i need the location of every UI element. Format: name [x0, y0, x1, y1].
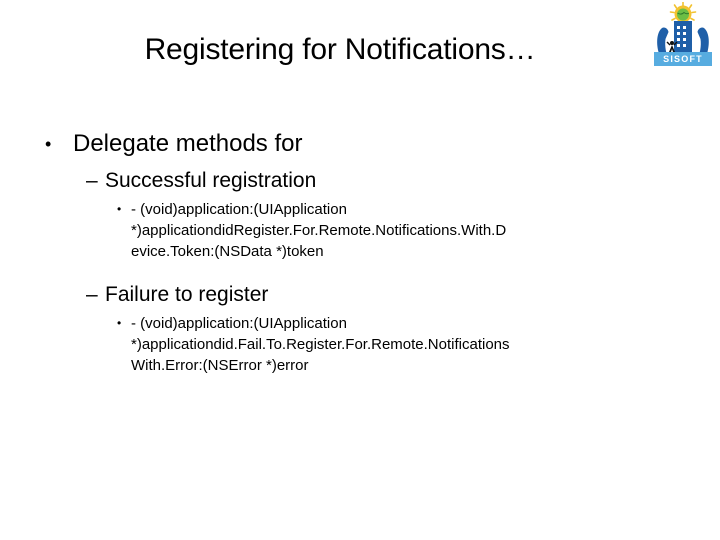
code-line: evice.Token:(NSData *)token	[131, 241, 668, 262]
bullet-level2-failure: – Failure to register	[0, 280, 720, 310]
dash-marker-icon: –	[86, 166, 98, 196]
bullet-level1-text: Delegate methods for	[73, 130, 302, 157]
bullet-level1: • Delegate methods for	[0, 128, 720, 160]
code-line: With.Error:(NSError *)error	[131, 355, 668, 376]
dash-marker-icon: –	[86, 280, 98, 310]
code-line: - (void)application:(UIApplication	[131, 199, 668, 220]
code-line: *)applicationdidRegister.For.Remote.Noti…	[131, 220, 668, 241]
bullet-marker-icon: •	[117, 313, 121, 334]
logo-wordmark: SISOFT	[654, 52, 712, 66]
code-line: *)applicationdid.Fail.To.Register.For.Re…	[131, 334, 668, 355]
bullet-marker-icon: •	[45, 128, 51, 160]
page-title: Registering for Notifications…	[145, 34, 536, 66]
bullet-level3-success-signature: • - (void)application:(UIApplication *)a…	[0, 199, 720, 262]
bullet-marker-icon: •	[117, 199, 121, 220]
title-placeholder: Registering for Notifications…	[40, 22, 640, 78]
bullet-level2-text: Successful registration	[105, 169, 316, 192]
sisoft-logo: SISOFT	[650, 2, 716, 74]
bullet-level2-successful: – Successful registration	[0, 166, 720, 196]
code-line: - (void)application:(UIApplication	[131, 313, 668, 334]
content-placeholder: • Delegate methods for – Successful regi…	[0, 128, 720, 376]
globe-icon	[677, 9, 689, 21]
slide-canvas: Registering for Notifications…	[0, 0, 720, 540]
bullet-level3-failure-signature: • - (void)application:(UIApplication *)a…	[0, 313, 720, 376]
spacer	[0, 262, 720, 276]
bullet-level2-text: Failure to register	[105, 283, 268, 306]
